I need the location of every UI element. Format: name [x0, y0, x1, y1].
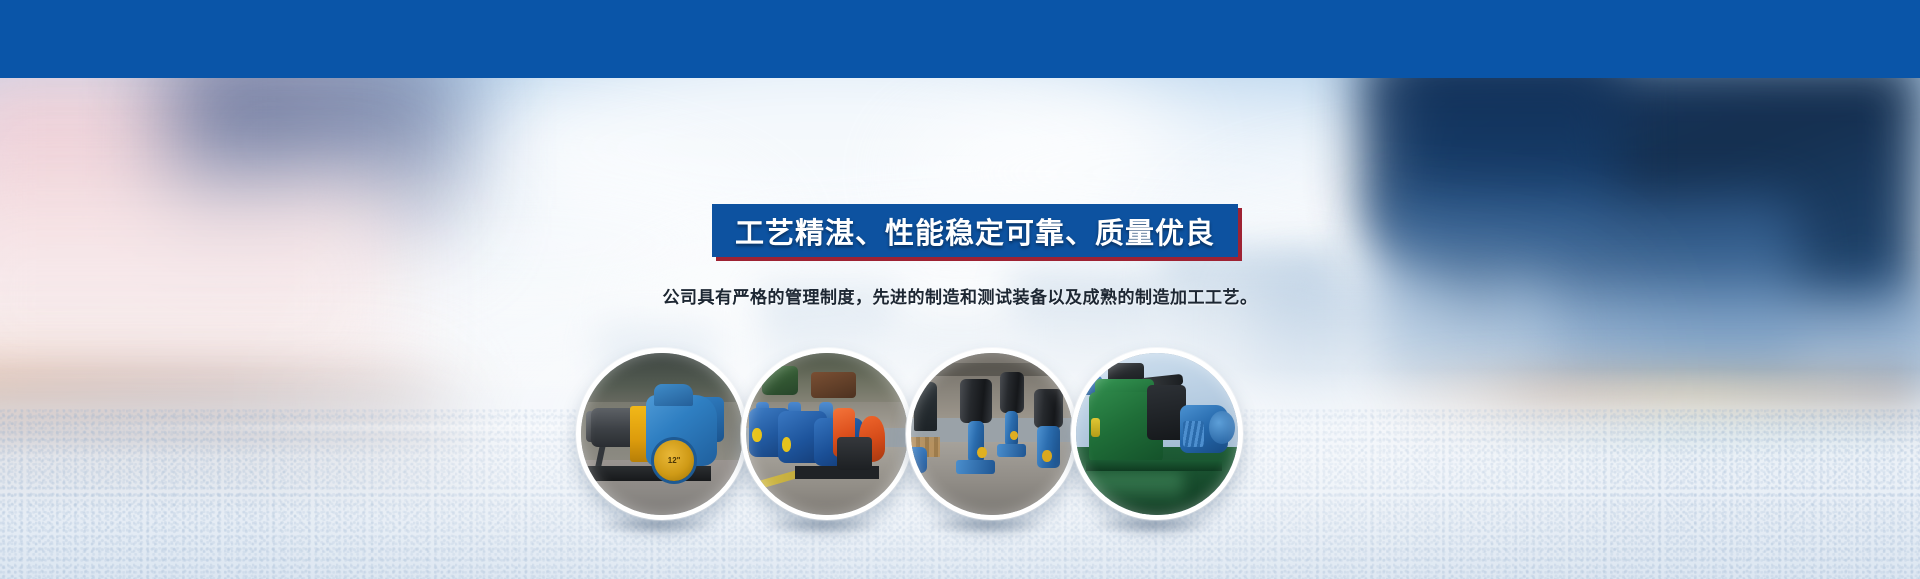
top-blue-bar: [0, 0, 1920, 78]
hero-banner-stage: 工艺精湛、性能稳定可靠、质量优良 公司具有严格的管理制度，先进的制造和测试装备以…: [0, 0, 1920, 579]
split-case-pump-photo: 12": [581, 353, 743, 515]
gallery-circle-1[interactable]: 12": [576, 348, 748, 520]
vertical-inline-pump-photo: [911, 353, 1073, 515]
gallery-circle-4[interactable]: [1071, 348, 1243, 520]
page-title: 工艺精湛、性能稳定可靠、质量优良: [735, 210, 1215, 252]
gallery-circle-3[interactable]: [906, 348, 1078, 520]
gallery-circle-2[interactable]: [741, 348, 913, 520]
diesel-engine-pump-photo: [1076, 353, 1238, 515]
headline-plate-box: 工艺精湛、性能稳定可靠、质量优良: [712, 204, 1238, 257]
headline-plate: 工艺精湛、性能稳定可靠、质量优良: [712, 204, 1238, 257]
pump-size-badge: 12": [654, 440, 695, 481]
slurry-pump-row-photo: [746, 353, 908, 515]
page-subtitle: 公司具有严格的管理制度，先进的制造和测试装备以及成熟的制造加工工艺。: [0, 283, 1920, 308]
